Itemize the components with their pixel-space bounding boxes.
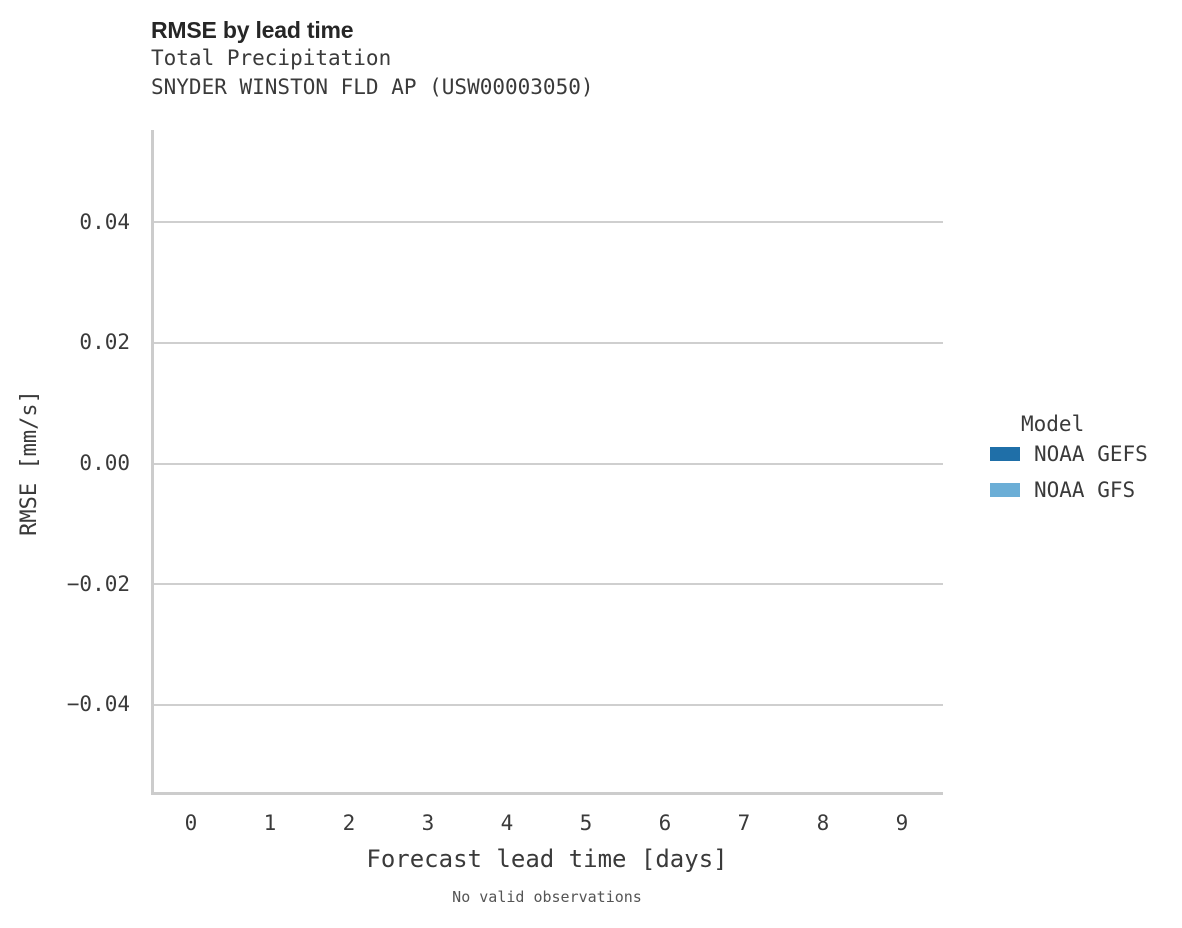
gridline-0.04 xyxy=(151,221,943,223)
x-tick-label-6: 6 xyxy=(635,813,695,834)
no-data-annotation: No valid observations xyxy=(151,888,943,906)
y-tick-label-1: 0.02 xyxy=(0,332,130,353)
x-tick-label-1: 1 xyxy=(240,813,300,834)
plot-area xyxy=(151,130,943,795)
legend-label-noaa-gefs: NOAA GEFS xyxy=(1034,444,1148,465)
legend-label-noaa-gfs: NOAA GFS xyxy=(1034,480,1135,501)
x-tick-label-9: 9 xyxy=(872,813,932,834)
gridline-0.00 xyxy=(151,463,943,465)
chart-subtitle-station: SNYDER WINSTON FLD AP (USW00003050) xyxy=(151,73,971,102)
legend-entry-noaa-gfs[interactable]: NOAA GFS xyxy=(990,472,1182,508)
x-tick-label-2: 2 xyxy=(319,813,379,834)
x-axis-label: Forecast lead time [days] xyxy=(151,845,943,873)
legend-swatch-icon-noaa-gfs xyxy=(990,483,1020,497)
x-tick-label-3: 3 xyxy=(398,813,458,834)
y-tick-label-4: −0.04 xyxy=(0,694,130,715)
x-axis-spine xyxy=(151,792,943,795)
x-tick-label-8: 8 xyxy=(793,813,853,834)
y-tick-label-0: 0.04 xyxy=(0,212,130,233)
y-tick-label-3: −0.02 xyxy=(0,574,130,595)
gridline--0.04 xyxy=(151,704,943,706)
y-axis-label: RMSE [mm/s] xyxy=(19,390,41,536)
title-block: RMSE by lead time Total Precipitation SN… xyxy=(151,16,971,102)
chart-subtitle-variable: Total Precipitation xyxy=(151,44,971,73)
gridline-0.02 xyxy=(151,342,943,344)
legend-swatch-icon-noaa-gefs xyxy=(990,447,1020,461)
legend-entry-noaa-gefs[interactable]: NOAA GEFS xyxy=(990,436,1182,472)
x-tick-label-7: 7 xyxy=(714,813,774,834)
chart-title: RMSE by lead time xyxy=(151,16,971,44)
gridline--0.02 xyxy=(151,583,943,585)
legend: Model NOAA GEFS NOAA GFS xyxy=(990,412,1182,508)
x-tick-label-4: 4 xyxy=(477,813,537,834)
legend-title: Model xyxy=(990,412,1182,436)
chart-figure: RMSE by lead time Total Precipitation SN… xyxy=(0,0,1182,928)
x-tick-label-5: 5 xyxy=(556,813,616,834)
y-axis-spine xyxy=(151,130,154,795)
x-tick-label-0: 0 xyxy=(161,813,221,834)
